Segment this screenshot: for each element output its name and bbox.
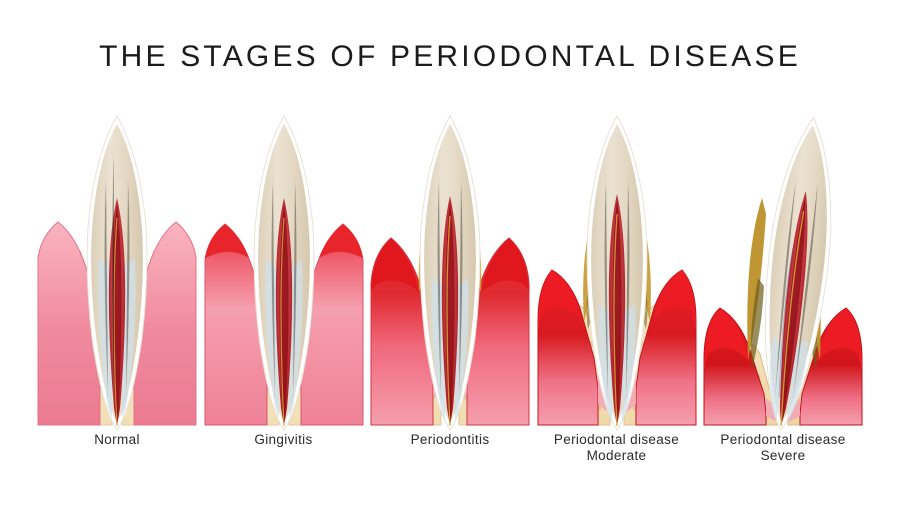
stage-periodontal-disease-moderate xyxy=(536,108,698,438)
label-severe-line1: Periodontal disease xyxy=(720,432,845,447)
periodontal-disease-infographic: THE STAGES OF PERIODONTAL DISEASE xyxy=(0,0,900,510)
stages-row xyxy=(0,108,900,438)
label-moderate-line1: Periodontal disease xyxy=(554,432,679,447)
stage-gingivitis xyxy=(203,108,365,438)
label-gingivitis-line1: Gingivitis xyxy=(254,432,312,447)
label-periodontitis: Periodontitis xyxy=(369,432,531,492)
stage-periodontitis xyxy=(369,108,531,438)
stage-normal xyxy=(36,108,198,438)
label-periodontitis-line1: Periodontitis xyxy=(411,432,490,447)
label-severe-line2: Severe xyxy=(702,448,864,464)
page-title: THE STAGES OF PERIODONTAL DISEASE xyxy=(0,40,900,74)
label-gingivitis: Gingivitis xyxy=(203,432,365,492)
label-periodontal-disease-moderate: Periodontal disease Moderate xyxy=(536,432,698,492)
label-periodontal-disease-severe: Periodontal disease Severe xyxy=(702,432,864,492)
label-normal: Normal xyxy=(36,432,198,492)
stage-periodontal-disease-severe xyxy=(702,108,864,438)
label-normal-line1: Normal xyxy=(94,432,140,447)
stage-labels-row: Normal Gingivitis Periodontitis Periodon… xyxy=(0,432,900,492)
label-moderate-line2: Moderate xyxy=(536,448,698,464)
